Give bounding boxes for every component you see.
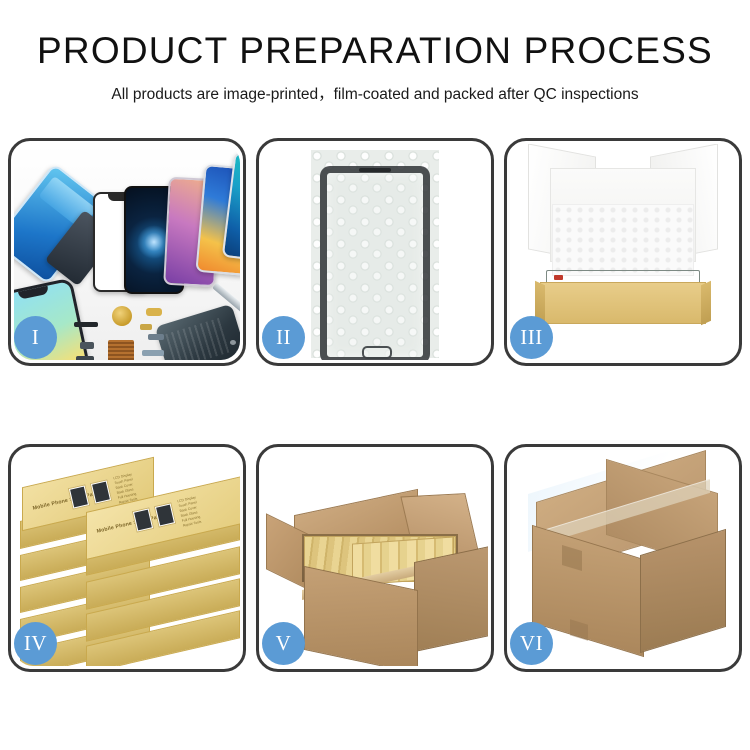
process-steps-grid: I II xyxy=(8,138,742,672)
red-marker-sticker xyxy=(554,275,563,280)
gold-bracket-part xyxy=(140,324,152,330)
phone-screen-glass xyxy=(320,166,430,360)
screw-part-2 xyxy=(236,350,240,355)
gold-connector-part xyxy=(146,308,162,316)
step-panel-4: Mobile Phone Spare Parts LCD Display Tou… xyxy=(8,444,246,672)
box-front-wall xyxy=(540,282,706,324)
step-panel-2: II xyxy=(256,138,494,366)
logic-board xyxy=(155,304,240,360)
step-badge-1: I xyxy=(14,316,57,359)
bubble-wrap-film xyxy=(311,150,439,358)
step-badge-6: VI xyxy=(510,622,553,665)
step-badge-2: II xyxy=(262,316,305,359)
carton-side-wall xyxy=(414,546,488,652)
step-panel-3: III xyxy=(504,138,742,366)
screw-part xyxy=(230,340,236,345)
flex-cable-part-2 xyxy=(76,356,94,360)
page-subtitle: All products are image-printed，film-coat… xyxy=(0,82,750,104)
screw-mesh-part xyxy=(108,340,134,360)
step-panel-1: I xyxy=(8,138,246,366)
step-panel-6: VI xyxy=(504,444,742,672)
product-preparation-infographic: PRODUCT PREPARATION PROCESS All products… xyxy=(0,0,750,750)
step-badge-5: V xyxy=(262,622,305,665)
header: PRODUCT PREPARATION PROCESS All products… xyxy=(0,0,750,104)
flex-cable-part xyxy=(80,342,94,349)
step-panel-5: V xyxy=(256,444,494,672)
speaker-part xyxy=(74,322,98,327)
ribbon-connector-part-2 xyxy=(148,334,164,340)
page-title: PRODUCT PREPARATION PROCESS xyxy=(0,32,750,69)
copper-coil-part xyxy=(112,306,132,326)
step-badge-4: IV xyxy=(14,622,57,665)
step-badge-3: III xyxy=(510,316,553,359)
ribbon-connector-part xyxy=(142,350,164,356)
white-foam-padding xyxy=(552,204,694,276)
